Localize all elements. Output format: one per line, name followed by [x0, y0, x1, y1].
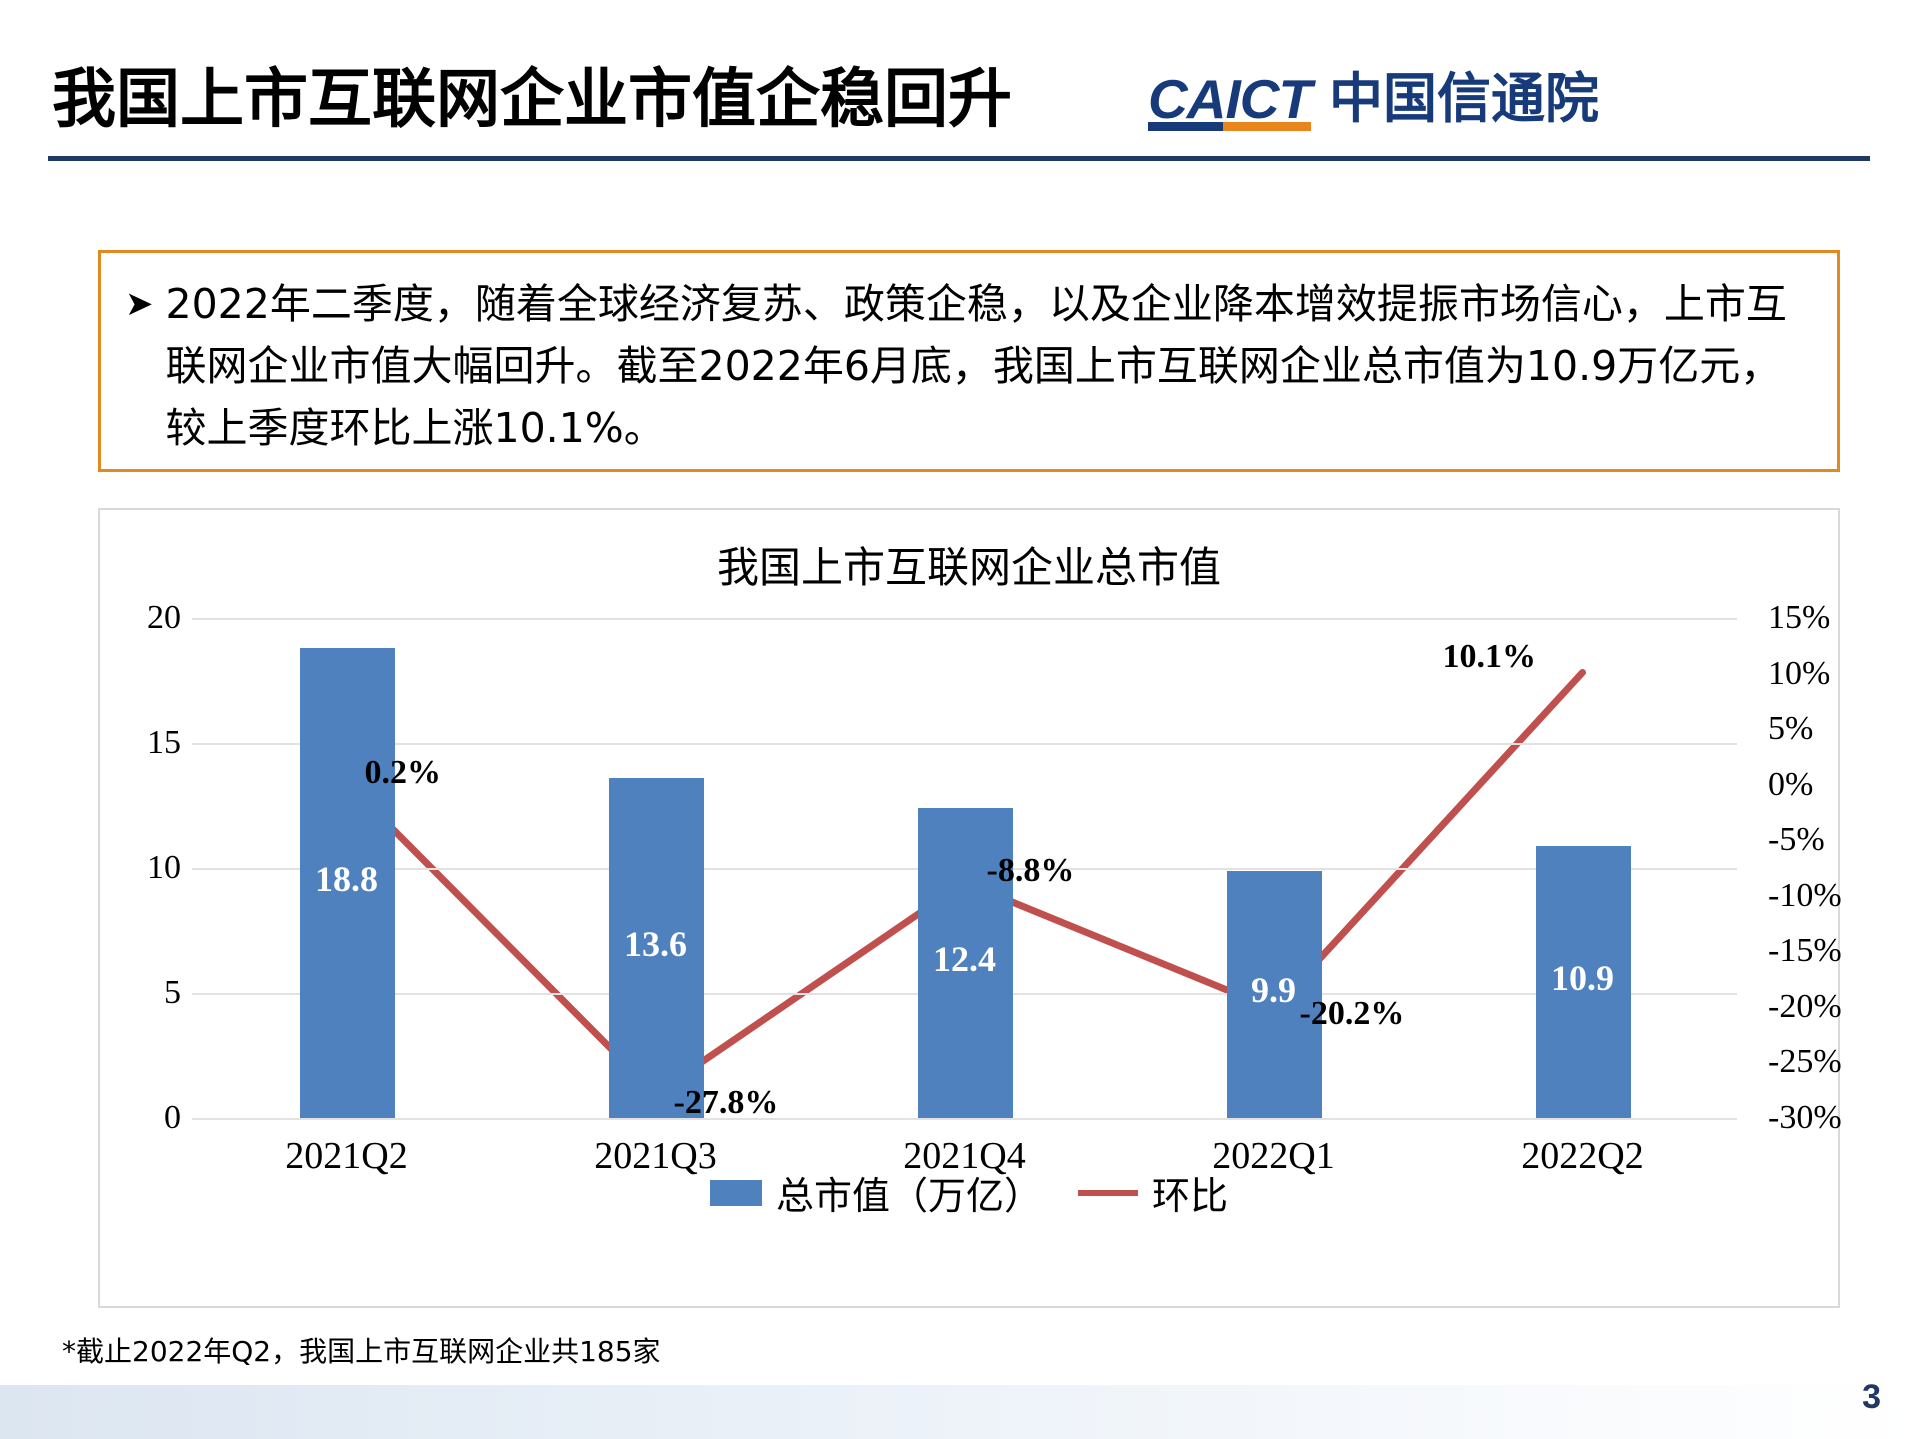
y-axis-left-tick: 20 [61, 599, 181, 637]
y-axis-right-tick: 5% [1768, 710, 1918, 748]
callout-content: ➤ 2022年二季度，随着全球经济复苏、政策企稳，以及企业降本增效提振市场信心，… [125, 273, 1819, 459]
callout-box: ➤ 2022年二季度，随着全球经济复苏、政策企稳，以及企业降本增效提振市场信心，… [98, 250, 1840, 472]
bar-value-label: 13.6 [586, 923, 726, 965]
line-point-label: 0.2% [365, 754, 442, 792]
y-axis-left-tick: 10 [61, 849, 181, 887]
y-axis-right-tick: -30% [1768, 1099, 1918, 1137]
gridline [192, 618, 1737, 620]
arrow-bullet-icon: ➤ [125, 273, 154, 335]
line-point-label: 10.1% [1443, 638, 1537, 676]
footnote: *截止2022年Q2，我国上市互联网企业共185家 [62, 1330, 661, 1370]
bar-value-label: 18.8 [277, 858, 417, 900]
bar-value-label: 12.4 [895, 938, 1035, 980]
y-axis-left-tick: 5 [61, 974, 181, 1012]
page-title: 我国上市互联网企业市值企稳回升 [52, 48, 1012, 140]
title-divider [48, 156, 1870, 161]
logo-underline-icon [1148, 122, 1311, 131]
callout-text: 2022年二季度，随着全球经济复苏、政策企稳，以及企业降本增效提振市场信心，上市… [166, 273, 1820, 459]
legend-label-line: 环比 [1152, 1165, 1228, 1220]
y-axis-right-tick: -25% [1768, 1043, 1918, 1081]
gridline [192, 1118, 1737, 1120]
y-axis-left-tick: 0 [61, 1099, 181, 1137]
logo-acronym-wrap: CAICT [1148, 70, 1311, 128]
legend-item-bar: 总市值（万亿） [710, 1165, 1042, 1220]
y-axis-right-tick: -20% [1768, 988, 1918, 1026]
gridline [192, 743, 1737, 745]
y-axis-right-tick: -5% [1768, 821, 1918, 859]
legend-label-bar: 总市值（万亿） [776, 1165, 1042, 1220]
line-point-label: -27.8% [674, 1084, 779, 1122]
y-axis-right-tick: 10% [1768, 655, 1918, 693]
y-axis-right-tick: -10% [1768, 877, 1918, 915]
slide-header: 我国上市互联网企业市值企稳回升 CAICT 中国信通院 [0, 0, 1919, 175]
logo-acronym: CAICT [1148, 68, 1311, 130]
legend-swatch-line-icon [1078, 1190, 1138, 1196]
footer-bar [0, 1385, 1919, 1439]
bar-value-label: 10.9 [1513, 957, 1653, 999]
chart-panel: 我国上市互联网企业总市值 2015105015%10%5%0%-5%-10%-1… [98, 508, 1840, 1308]
line-point-label: -8.8% [987, 852, 1075, 890]
legend-swatch-bar-icon [710, 1180, 762, 1206]
y-axis-left-tick: 15 [61, 724, 181, 762]
y-axis-right-tick: -15% [1768, 932, 1918, 970]
caict-logo: CAICT 中国信通院 [1148, 70, 1868, 144]
logo-name-cn: 中国信通院 [1329, 70, 1599, 128]
line-point-label: -20.2% [1300, 995, 1405, 1033]
chart-legend: 总市值（万亿） 环比 [100, 1165, 1838, 1220]
chart-title: 我国上市互联网企业总市值 [100, 534, 1838, 595]
chart-plot-area: 2015105015%10%5%0%-5%-10%-15%-20%-25%-30… [192, 618, 1737, 1118]
legend-item-line: 环比 [1078, 1165, 1228, 1220]
y-axis-right-tick: 0% [1768, 766, 1918, 804]
page-number: 3 [1862, 1378, 1881, 1417]
y-axis-right-tick: 15% [1768, 599, 1918, 637]
